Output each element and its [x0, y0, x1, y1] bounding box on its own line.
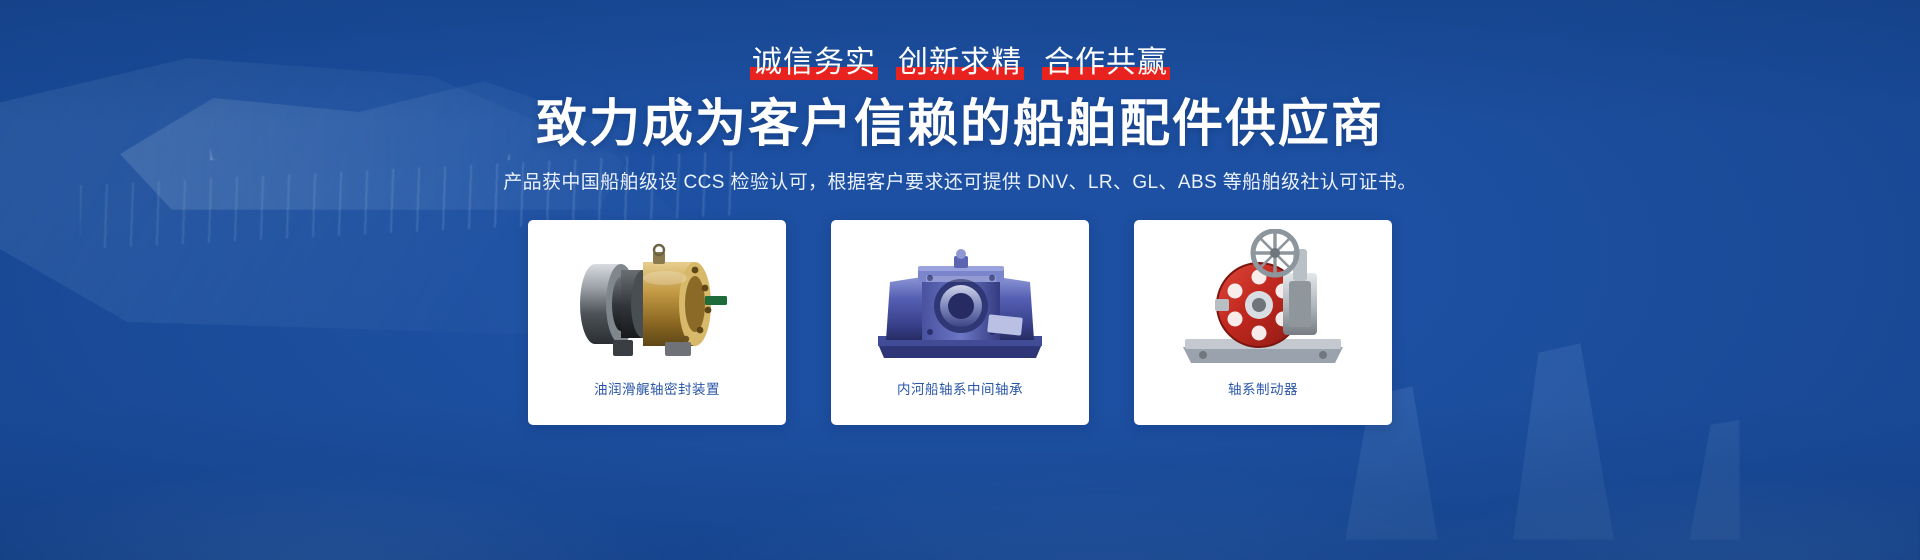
- product-card-1-caption: 油润滑艉轴密封装置: [594, 378, 720, 398]
- slogan-segment-3: 合作共赢: [1042, 48, 1170, 78]
- product-card-2[interactable]: 内河船轴系中间轴承: [831, 220, 1089, 425]
- product-card-list: 油润滑艉轴密封装置: [528, 220, 1392, 425]
- slogan: 诚信务实 创新求精 合作共赢: [750, 48, 1170, 78]
- page-title: 致力成为客户信赖的船舶配件供应商: [536, 96, 1384, 151]
- slogan-segment-2-text: 创新求精: [898, 46, 1022, 79]
- product-card-3-caption: 轴系制动器: [1228, 378, 1298, 398]
- product-card-3[interactable]: 轴系制动器: [1134, 220, 1392, 425]
- product-card-1[interactable]: 油润滑艉轴密封装置: [528, 220, 786, 425]
- slogan-segment-1: 诚信务实: [750, 48, 878, 78]
- slogan-segment-1-text: 诚信务实: [752, 46, 876, 79]
- slogan-segment-2: 创新求精: [896, 48, 1024, 78]
- inland-vessel-shaft-intermediate-bearing-photo: [844, 228, 1076, 376]
- subtitle-text: 产品获中国船舶级设 CCS 检验认可，根据客户要求还可提供 DNV、LR、GL、…: [503, 167, 1417, 194]
- slogan-segment-3-text: 合作共赢: [1044, 46, 1168, 79]
- hero-content: 诚信务实 创新求精 合作共赢 致力成为客户信赖的船舶配件供应商 产品获中国船舶级…: [0, 0, 1920, 560]
- shaft-brake-device-photo: [1147, 228, 1379, 376]
- oil-lubricated-stern-shaft-seal-photo: [541, 228, 773, 376]
- product-card-2-caption: 内河船轴系中间轴承: [897, 378, 1023, 398]
- hero-banner: 诚信务实 创新求精 合作共赢 致力成为客户信赖的船舶配件供应商 产品获中国船舶级…: [0, 0, 1920, 560]
